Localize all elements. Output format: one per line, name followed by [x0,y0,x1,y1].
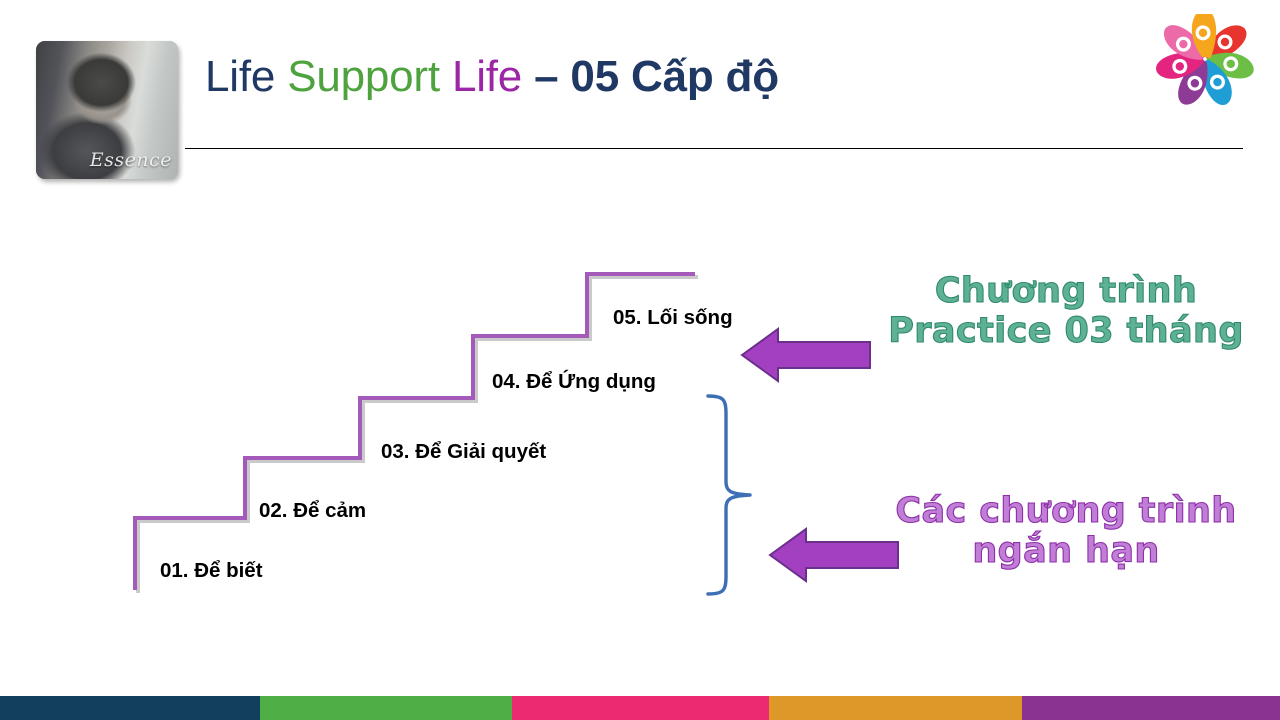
title-word-life1: Life [205,52,275,101]
slide-canvas: Essence Life Support Life – 05 Cấp độ [0,0,1280,720]
color-band-pink [512,696,769,720]
step-label-03: 03. Để Giải quyết [381,440,546,464]
callout-practice-program: Chương trình Practice 03 tháng [880,272,1252,352]
callout-short-line2: ngắn hạn [880,532,1252,572]
step-label-04: 04. Để Ứng dụng [492,370,656,394]
bottom-color-bar [0,696,1280,720]
color-band-navy [0,696,260,720]
portrait-image [36,41,178,179]
title-divider [185,148,1243,149]
color-band-orange [769,696,1022,720]
title-word-life2: Life [452,52,522,101]
callout-practice-line2: Practice 03 tháng [880,312,1252,352]
title-word-support: Support [287,52,440,101]
title-word-levels: – 05 Cấp độ [534,52,779,101]
step-label-01: 01. Để biết [160,559,263,583]
step-label-05: 05. Lối sống [613,306,733,330]
color-band-green [260,696,512,720]
color-band-purple [1022,696,1280,720]
page-title: Life Support Life – 05 Cấp độ [205,55,779,99]
arrow-left-practice [740,327,872,383]
callout-practice-line1: Chương trình [880,272,1252,312]
staircase-path [135,274,695,590]
presenter-photo: Essence [36,41,178,179]
callout-short-programs: Các chương trình ngắn hạn [880,492,1252,572]
staircase-diagram [100,250,740,610]
brand-logo-icon [1155,14,1255,108]
callout-short-line1: Các chương trình [880,492,1252,532]
step-label-02: 02. Để cảm [259,499,366,523]
brace-short-programs [698,390,768,600]
